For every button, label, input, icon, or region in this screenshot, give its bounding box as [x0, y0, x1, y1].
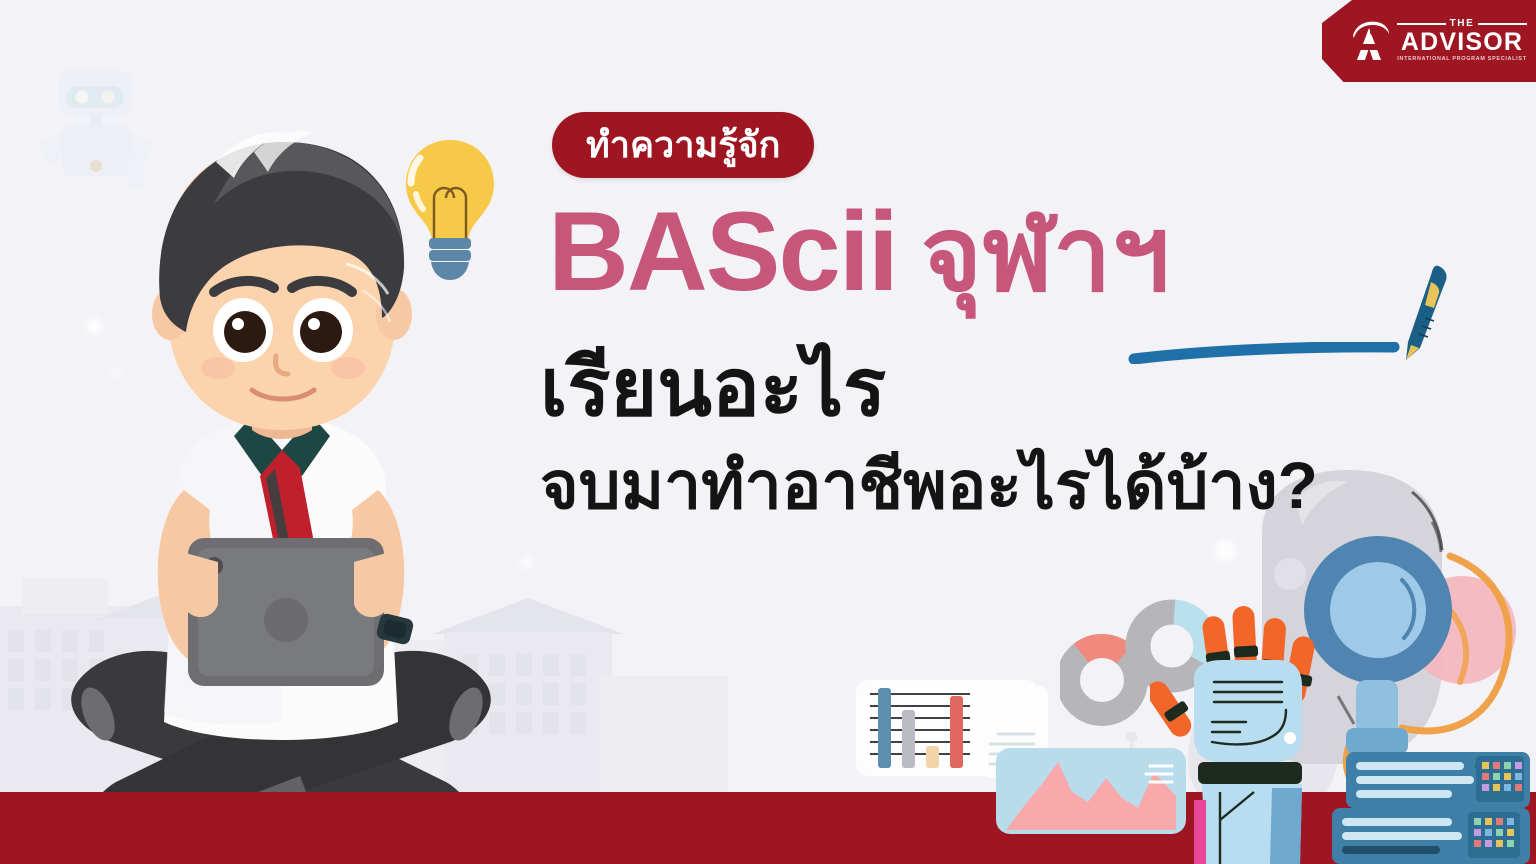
logo-tagline-text: INTERNATIONAL PROGRAM SPECIALIST — [1397, 57, 1526, 62]
advisor-a-mark-icon — [1347, 18, 1391, 64]
server-rack-icon — [1332, 752, 1530, 864]
page-title: BAScii จุฬาฯ — [548, 196, 1170, 308]
intro-badge: ทำความรู้จัก — [552, 112, 814, 178]
promo-banner: THE ADVISOR INTERNATIONAL PROGRAM SPECIA… — [0, 0, 1536, 864]
subtitle-line-1: เรียนอะไร — [540, 348, 886, 428]
pen-icon — [1398, 262, 1454, 370]
student-illustration — [46, 118, 516, 864]
intro-badge-label: ทำความรู้จัก — [586, 127, 780, 163]
subtitle-line-2: จบมาทำอาชีพอะไรได้บ้าง? — [540, 452, 1318, 518]
robot-tech-group — [1150, 470, 1536, 864]
logo-rule-right — [1478, 23, 1526, 25]
logo-name-text: ADVISOR — [1401, 30, 1523, 55]
title-program-name: BAScii — [548, 196, 897, 308]
advisor-logo-banner[interactable]: THE ADVISOR INTERNATIONAL PROGRAM SPECIA… — [1322, 0, 1536, 82]
title-university-name: จุฬาฯ — [921, 203, 1170, 307]
sparkle-decor — [520, 556, 533, 569]
logo-rule-left — [1397, 23, 1445, 25]
underline-stroke — [1128, 342, 1400, 364]
